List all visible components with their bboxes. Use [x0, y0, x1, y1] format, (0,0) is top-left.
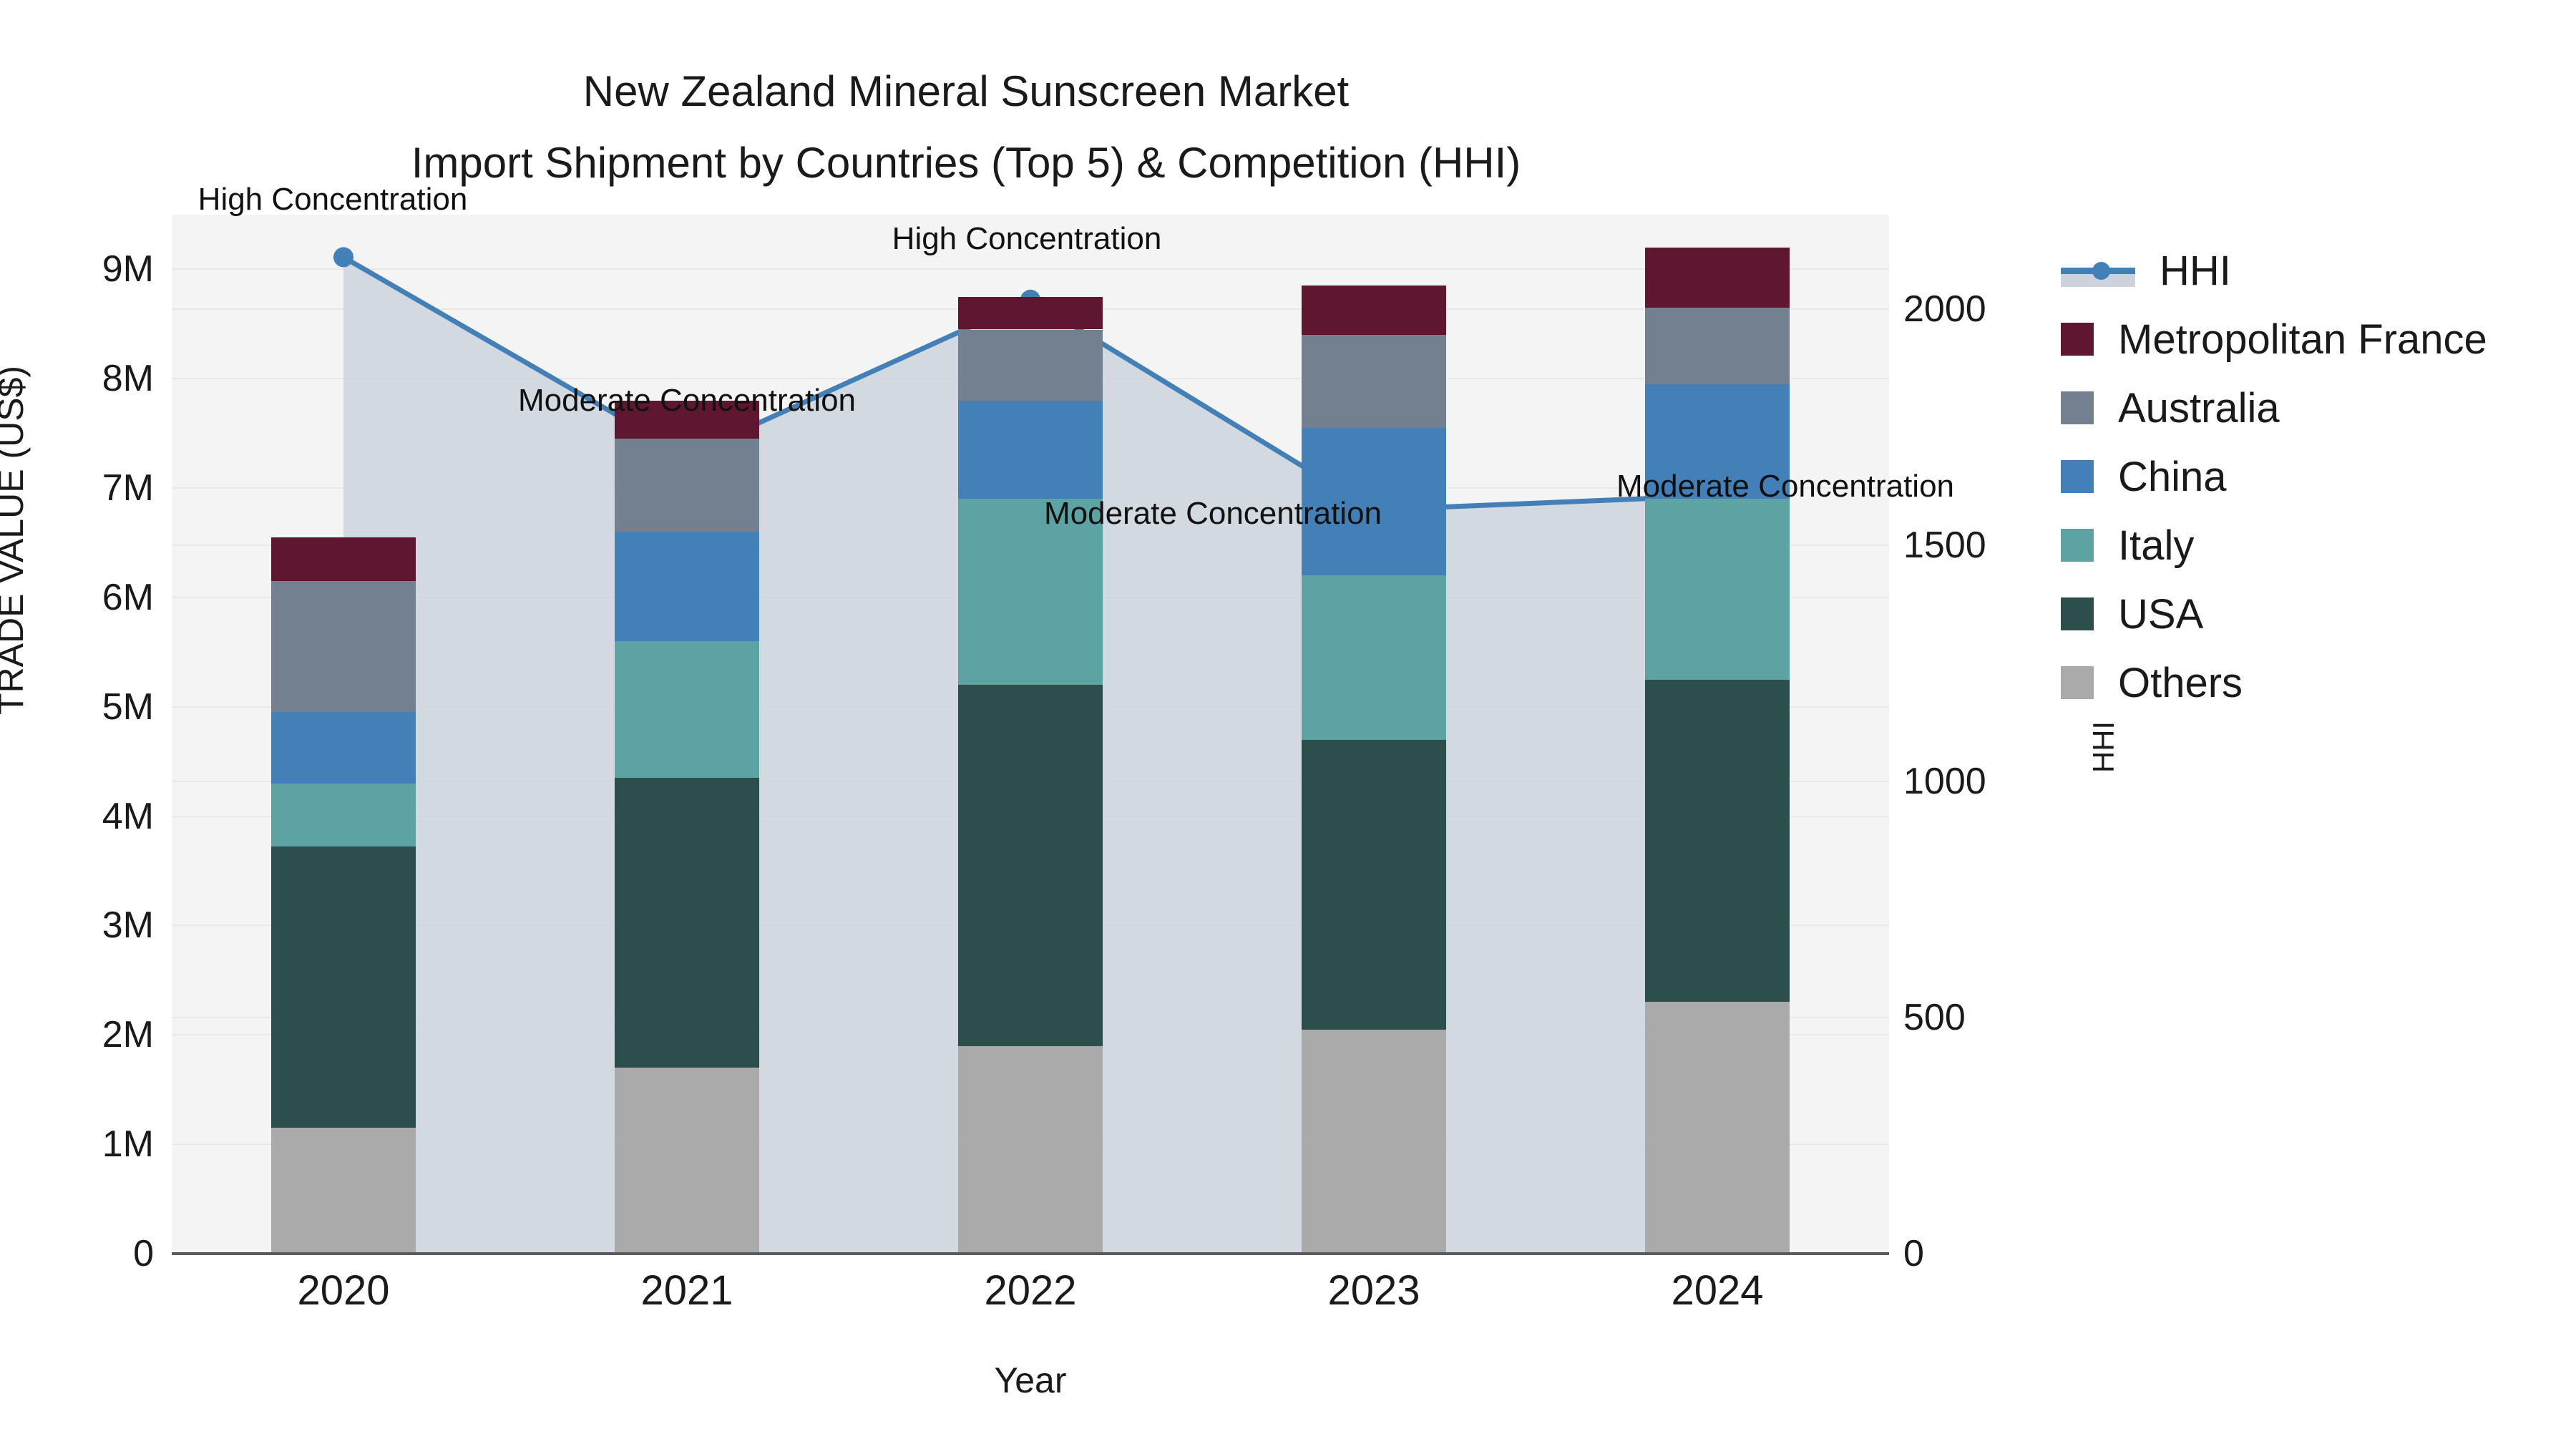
bar-segment-italy[interactable]: [1645, 499, 1790, 679]
bar-group-2024[interactable]: [1645, 215, 1790, 1254]
y-axis-left-tick: 3M: [0, 904, 154, 947]
y-axis-left-title: TRADE VALUE (US$): [0, 182, 31, 898]
legend-swatch-icon: [2061, 666, 2094, 699]
annotation-2020: High Concentration: [198, 182, 468, 218]
legend-swatch-icon: [2061, 323, 2094, 356]
bar-segment-australia[interactable]: [1645, 308, 1790, 384]
bar-segment-australia[interactable]: [958, 330, 1103, 401]
legend: HHIMetropolitan FranceAustraliaChinaItal…: [2061, 236, 2562, 717]
bar-segment-china[interactable]: [958, 401, 1103, 499]
y-axis-right-tick: 1000: [1903, 760, 2089, 803]
annotation-2022: High Concentration: [892, 221, 1162, 257]
x-axis-tick-2022: 2022: [887, 1267, 1174, 1314]
x-axis-tick-2023: 2023: [1231, 1267, 1517, 1314]
legend-swatch-icon: [2061, 597, 2094, 630]
y-axis-left-tick: 2M: [0, 1013, 154, 1056]
legend-label: Australia: [2118, 384, 2280, 432]
chart-title-line1: New Zealand Mineral Sunscreen Market: [583, 67, 1349, 115]
bar-group-2023[interactable]: [1302, 215, 1446, 1254]
bar-segment-italy[interactable]: [1302, 575, 1446, 739]
bar-segment-metropolitan-france[interactable]: [1302, 286, 1446, 335]
bar-segment-china[interactable]: [615, 532, 759, 641]
plot-area: [172, 215, 1889, 1254]
legend-item-china[interactable]: China: [2061, 442, 2562, 511]
legend-label: Others: [2118, 659, 2243, 707]
legend-swatch-icon: [2061, 391, 2094, 424]
x-axis-line: [172, 1252, 1889, 1255]
bar-segment-metropolitan-france[interactable]: [271, 537, 416, 581]
bar-segment-usa[interactable]: [271, 847, 416, 1128]
legend-item-others[interactable]: Others: [2061, 648, 2562, 717]
legend-item-usa[interactable]: USA: [2061, 580, 2562, 648]
legend-label: Italy: [2118, 522, 2194, 570]
bar-segment-others[interactable]: [615, 1068, 759, 1254]
chart-page: New Zealand Mineral Sunscreen Market Imp…: [0, 0, 2576, 1449]
bar-segment-australia[interactable]: [1302, 335, 1446, 428]
bar-segment-usa[interactable]: [615, 778, 759, 1068]
bar-segment-australia[interactable]: [271, 581, 416, 712]
legend-item-hhi[interactable]: HHI: [2061, 236, 2562, 305]
legend-label: China: [2118, 453, 2227, 501]
bar-segment-others[interactable]: [1302, 1030, 1446, 1254]
y-axis-right-tick: 0: [1903, 1232, 2089, 1275]
legend-line-marker-icon: [2061, 254, 2135, 287]
legend-swatch-icon: [2061, 460, 2094, 493]
bar-segment-metropolitan-france[interactable]: [1645, 248, 1790, 308]
legend-item-metropolitan-france[interactable]: Metropolitan France: [2061, 305, 2562, 374]
x-axis-tick-2020: 2020: [200, 1267, 487, 1314]
legend-item-australia[interactable]: Australia: [2061, 374, 2562, 442]
legend-item-italy[interactable]: Italy: [2061, 511, 2562, 580]
annotation-2021: Moderate Concentration: [518, 383, 856, 419]
stacked-bars: [172, 215, 1889, 1254]
bar-segment-usa[interactable]: [958, 685, 1103, 1045]
bar-group-2020[interactable]: [271, 215, 416, 1254]
bar-segment-metropolitan-france[interactable]: [958, 297, 1103, 330]
y-axis-left-tick: 1M: [0, 1123, 154, 1166]
bar-group-2021[interactable]: [615, 215, 759, 1254]
chart-title: New Zealand Mineral Sunscreen Market Imp…: [0, 56, 1932, 199]
bar-segment-australia[interactable]: [615, 439, 759, 532]
annotation-2023: Moderate Concentration: [1044, 496, 1382, 532]
bar-segment-others[interactable]: [1645, 1002, 1790, 1254]
legend-swatch-icon: [2061, 529, 2094, 562]
x-axis-title: Year: [172, 1360, 1889, 1401]
bar-segment-others[interactable]: [958, 1046, 1103, 1254]
x-axis-tick-2024: 2024: [1574, 1267, 1860, 1314]
annotation-2024: Moderate Concentration: [1616, 469, 1954, 504]
bar-segment-usa[interactable]: [1302, 740, 1446, 1030]
legend-label: Metropolitan France: [2118, 316, 2487, 364]
x-axis-tick-2021: 2021: [544, 1267, 830, 1314]
bar-segment-china[interactable]: [271, 712, 416, 783]
bar-segment-italy[interactable]: [615, 641, 759, 778]
y-axis-left-tick: 0: [0, 1232, 154, 1275]
bar-segment-usa[interactable]: [1645, 680, 1790, 1002]
legend-label: USA: [2118, 590, 2203, 638]
legend-label: HHI: [2160, 247, 2231, 295]
bar-group-2022[interactable]: [958, 215, 1103, 1254]
bar-segment-italy[interactable]: [271, 784, 416, 847]
bar-segment-others[interactable]: [271, 1128, 416, 1254]
y-axis-right-tick: 500: [1903, 996, 2089, 1039]
